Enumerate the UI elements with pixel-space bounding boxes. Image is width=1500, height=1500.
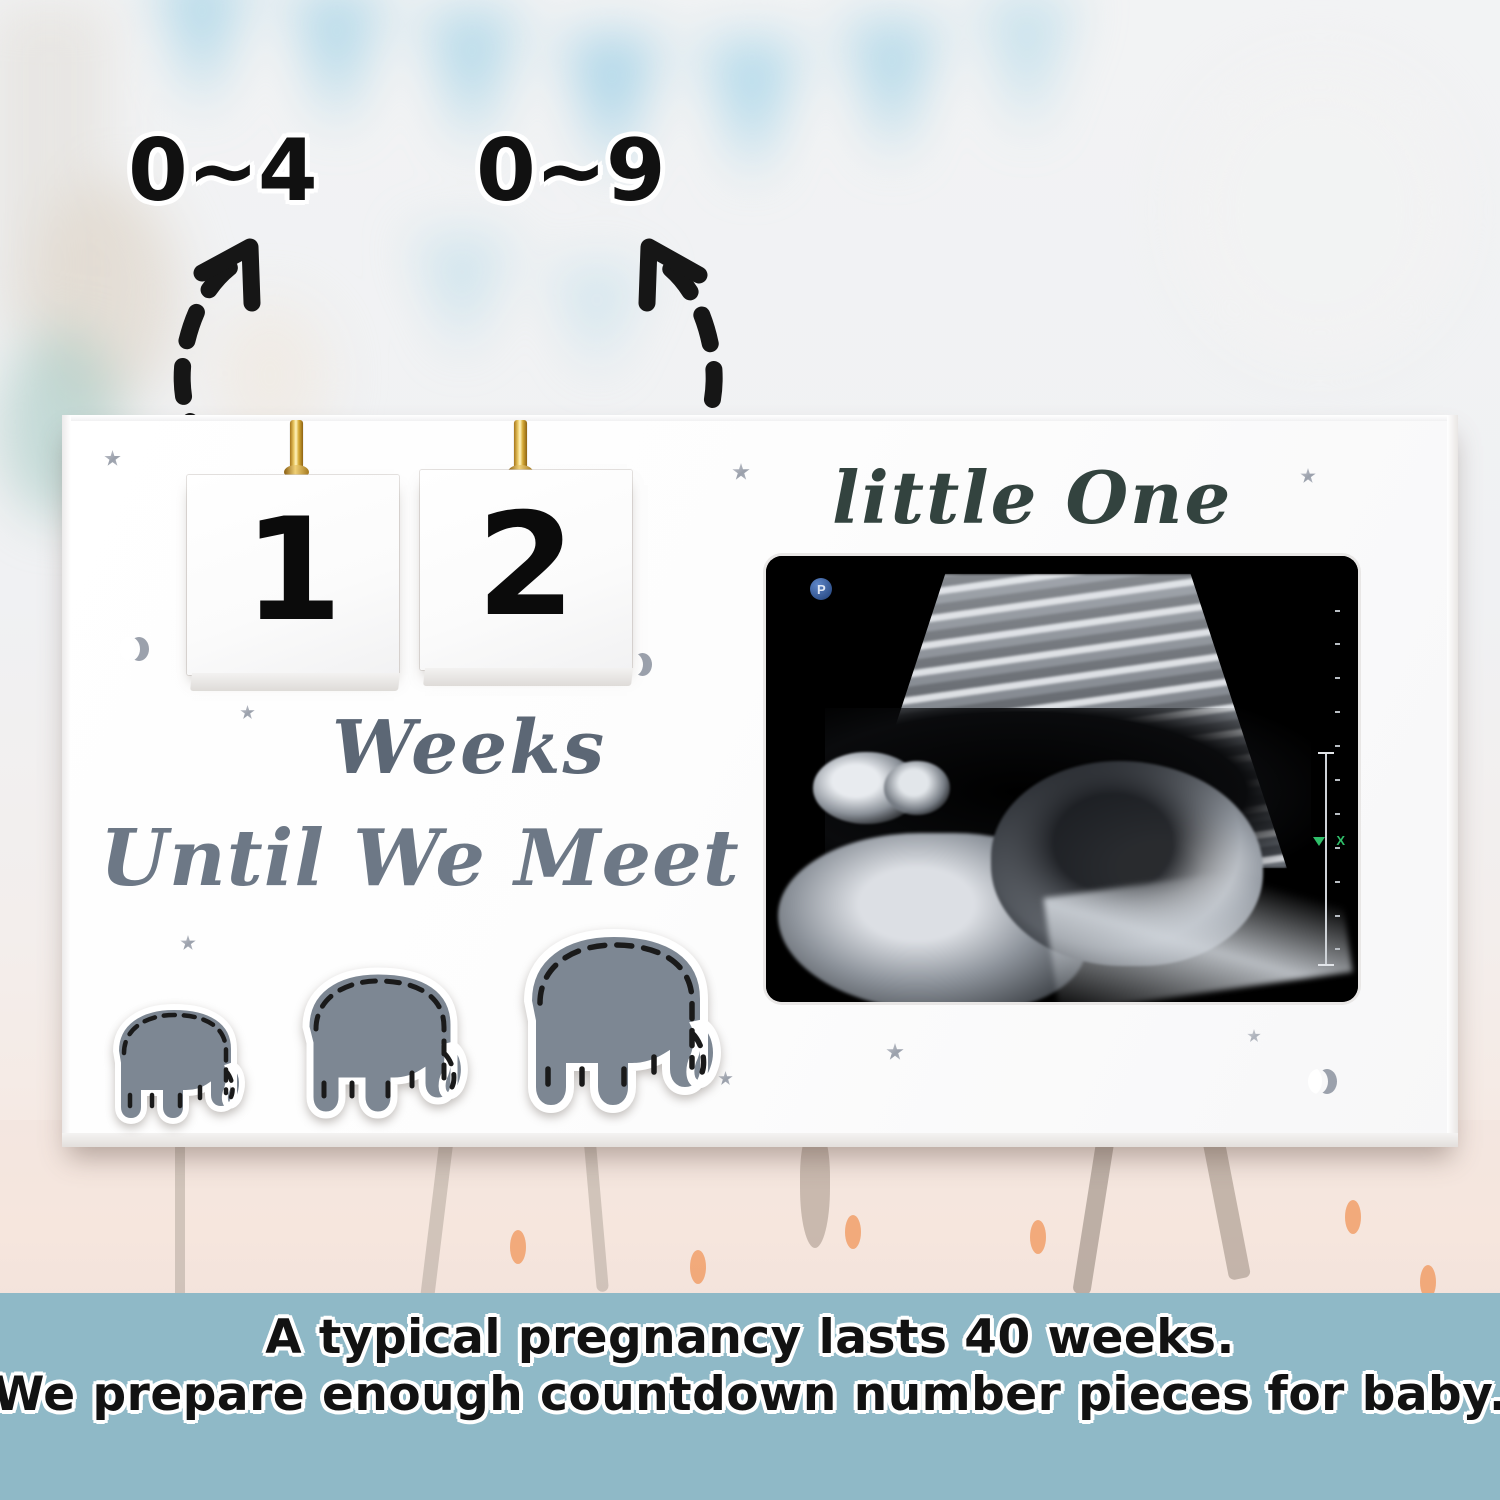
moon-icon bbox=[1308, 1069, 1328, 1094]
ultrasound-photo-frame[interactable]: P X bbox=[766, 556, 1358, 1002]
ultrasound-hand-secondary bbox=[884, 761, 949, 815]
star-icon bbox=[1300, 468, 1316, 484]
caption-banner: A typical pregnancy lasts 40 weeks. We p… bbox=[0, 1293, 1500, 1500]
star-icon bbox=[732, 463, 750, 481]
ultrasound-axis-marker-icon bbox=[1313, 837, 1325, 846]
page-title-little-one: little One bbox=[832, 455, 1232, 540]
tens-digit-tile[interactable]: 1 bbox=[187, 475, 399, 675]
caption-line-2: We prepare enough countdown number piece… bbox=[0, 1366, 1500, 1423]
elephant-icon-large bbox=[488, 915, 738, 1119]
probe-marker-icon: P bbox=[810, 578, 832, 600]
tens-digit-value: 1 bbox=[244, 500, 343, 642]
ones-tile-edge bbox=[423, 668, 633, 686]
board-left-edge bbox=[62, 415, 71, 1147]
star-icon bbox=[240, 705, 255, 720]
ones-digit-tile[interactable]: 2 bbox=[420, 470, 632, 670]
elephant-icon-medium bbox=[272, 955, 484, 1125]
countdown-frame-board: 1 2 little One Weeks Until We Meet You P bbox=[62, 415, 1458, 1147]
ultrasound-image: P X bbox=[766, 556, 1358, 1002]
caption-line-1: A typical pregnancy lasts 40 weeks. bbox=[265, 1309, 1235, 1366]
star-icon bbox=[1247, 1029, 1261, 1043]
star-icon bbox=[180, 935, 196, 951]
star-icon bbox=[104, 450, 121, 467]
annotation-label-ones: 0~9 bbox=[476, 128, 665, 214]
moon-icon bbox=[120, 637, 140, 661]
board-bottom-edge bbox=[62, 1133, 1458, 1147]
ultrasound-depth-ticks bbox=[1330, 610, 1340, 949]
tens-tile-edge bbox=[190, 673, 400, 691]
ultrasound-axis-label: X bbox=[1336, 833, 1345, 848]
ones-digit-value: 2 bbox=[477, 495, 576, 637]
product-photo-stage: 0~4 0~9 1 bbox=[0, 0, 1500, 1500]
elephant-icon-small bbox=[88, 995, 258, 1127]
annotation-label-tens: 0~4 bbox=[128, 128, 317, 214]
star-icon bbox=[886, 1043, 904, 1061]
board-top-edge bbox=[62, 415, 1458, 421]
floor-blur bbox=[0, 1120, 1500, 1320]
ultrasound-depth-scale bbox=[1325, 752, 1327, 966]
weeks-label: Weeks bbox=[332, 705, 606, 791]
board-right-edge bbox=[1447, 415, 1458, 1147]
